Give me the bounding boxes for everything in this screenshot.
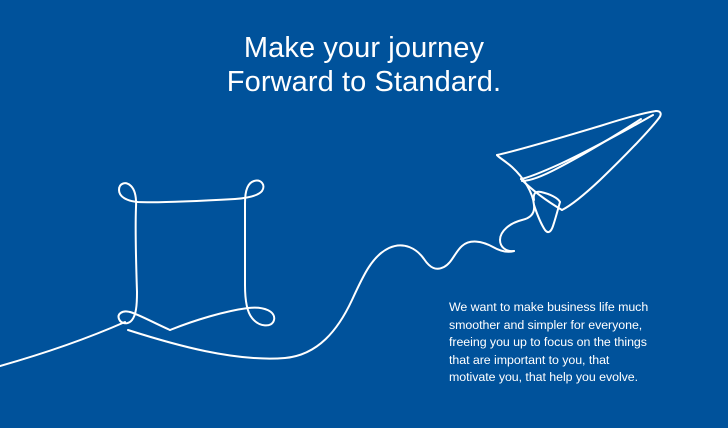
plane-body-panel <box>497 155 534 251</box>
flag-left-edge <box>119 292 170 330</box>
paper-plane-graphic <box>497 111 661 251</box>
plane-fin-inner-edge <box>534 192 560 202</box>
plane-center-crease <box>521 115 653 179</box>
flag-tail-to-left-edge <box>0 322 125 366</box>
page-title: Make your journey Forward to Standard. <box>0 31 728 99</box>
plane-rear-notch <box>521 179 562 210</box>
flag-right-edge-and-bottom-right-loop <box>170 285 274 330</box>
flag-top-right-loop <box>235 181 263 285</box>
plane-lower-fin <box>534 202 560 232</box>
plane-nose-tip <box>562 111 661 210</box>
flag-square-graphic <box>0 181 274 366</box>
flag-top-left-loop-and-top-edge <box>119 183 235 292</box>
plane-inner-fold <box>522 119 641 181</box>
promotional-banner: Make your journey Forward to Standard. W… <box>0 0 728 428</box>
plane-upper-wing <box>497 111 656 155</box>
body-copy: We want to make business life much smoot… <box>449 299 659 387</box>
